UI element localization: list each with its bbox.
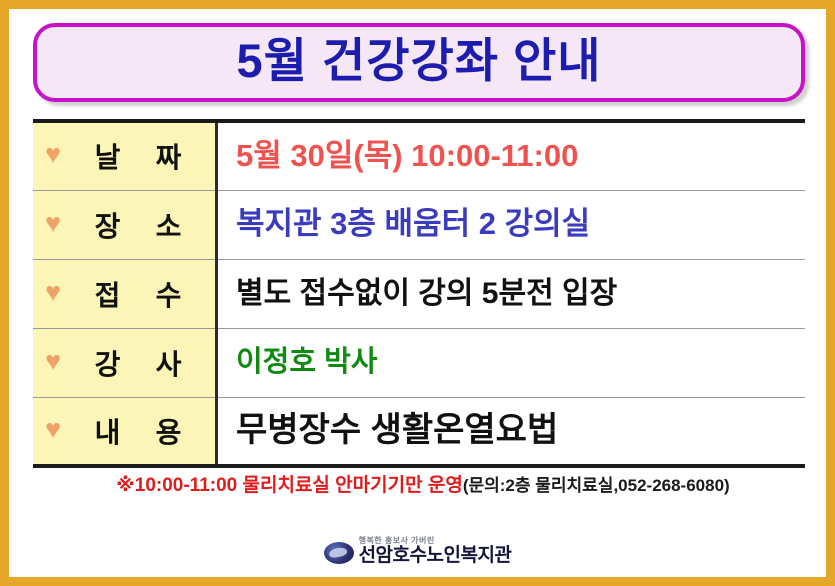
logo-emblem-icon [324, 542, 354, 564]
logo-text-wrap: 행복한 홍보사 가버린 선암호수노인복지관 [359, 537, 512, 565]
label-char: 수 [156, 274, 182, 314]
label-char: 짜 [156, 136, 182, 176]
label-inner: ♥ 내 용 [33, 411, 215, 451]
row-label-cell-registration: ♥ 접 수 [33, 259, 217, 328]
label-inner: ♥ 장 소 [33, 205, 215, 245]
heart-icon: ♥ [45, 141, 71, 168]
row-label-content: 내 용 [77, 411, 215, 451]
row-label-date: 날 짜 [77, 136, 215, 176]
row-value-place: 복지관 3층 배움터 2 강의실 [236, 207, 805, 241]
label-char: 날 [95, 136, 121, 176]
row-value-cell-date: 5월 30일(목) 10:00-11:00 [217, 121, 806, 190]
row-label-registration: 접 수 [77, 274, 215, 314]
page-title: 5월 건강강좌 안내 [237, 37, 602, 88]
row-label-cell-date: ♥ 날 짜 [33, 121, 217, 190]
row-value-date: 5월 30일(목) 10:00-11:00 [236, 139, 805, 173]
footnote-contact-text: (문의:2층 물리치료실,052-268-6080) [463, 476, 730, 495]
row-value-cell-place: 복지관 3층 배움터 2 강의실 [217, 190, 806, 259]
organization-logo: 행복한 홍보사 가버린 선암호수노인복지관 [9, 537, 826, 565]
table-row: ♥ 내 용 무병장수 생활온열요법 [33, 397, 805, 466]
row-label-place: 장 소 [77, 205, 215, 245]
row-value-cell-registration: 별도 접수없이 강의 5분전 입장 [217, 259, 806, 328]
lecture-info-table: ♥ 날 짜 5월 30일(목) 10:00-11:00 [33, 119, 805, 468]
label-char: 접 [95, 274, 121, 314]
footnote-main-text: ※10:00-11:00 물리치료실 안마기기만 운영 [116, 475, 463, 496]
row-value-registration: 별도 접수없이 강의 5분전 입장 [236, 277, 805, 310]
row-label-cell-instructor: ♥ 강 사 [33, 328, 217, 397]
poster-inner-surface: 5월 건강강좌 안내 ♥ 날 짜 5월 3 [9, 9, 826, 577]
label-char: 용 [156, 411, 182, 451]
logo-tagline: 행복한 홍보사 가버린 [359, 537, 435, 545]
label-inner: ♥ 날 짜 [33, 136, 215, 176]
heart-icon: ♥ [45, 416, 71, 443]
row-label-cell-place: ♥ 장 소 [33, 190, 217, 259]
heart-icon: ♥ [45, 279, 71, 306]
label-inner: ♥ 강 사 [33, 343, 215, 383]
heart-icon: ♥ [45, 348, 71, 375]
row-value-cell-instructor: 이정호 박사 [217, 328, 806, 397]
row-value-content: 무병장수 생활온열요법 [236, 412, 805, 449]
table-row: ♥ 날 짜 5월 30일(목) 10:00-11:00 [33, 121, 805, 190]
row-value-instructor: 이정호 박사 [236, 347, 805, 379]
heart-icon: ♥ [45, 210, 71, 237]
label-inner: ♥ 접 수 [33, 274, 215, 314]
table-row: ♥ 접 수 별도 접수없이 강의 5분전 입장 [33, 259, 805, 328]
table-row: ♥ 장 소 복지관 3층 배움터 2 강의실 [33, 190, 805, 259]
label-char: 내 [95, 411, 121, 451]
label-char: 소 [156, 205, 182, 245]
row-label-cell-content: ♥ 내 용 [33, 397, 217, 466]
table-row: ♥ 강 사 이정호 박사 [33, 328, 805, 397]
poster-root: 5월 건강강좌 안내 ♥ 날 짜 5월 3 [0, 0, 835, 586]
label-char: 사 [156, 343, 182, 383]
label-char: 장 [95, 205, 121, 245]
label-char: 강 [95, 343, 121, 383]
footnote: ※10:00-11:00 물리치료실 안마기기만 운영(문의:2층 물리치료실,… [33, 475, 813, 498]
logo-organization-name: 선암호수노인복지관 [359, 546, 512, 565]
title-banner: 5월 건강강좌 안내 [33, 23, 805, 102]
row-label-instructor: 강 사 [77, 343, 215, 383]
row-value-cell-content: 무병장수 생활온열요법 [217, 397, 806, 466]
